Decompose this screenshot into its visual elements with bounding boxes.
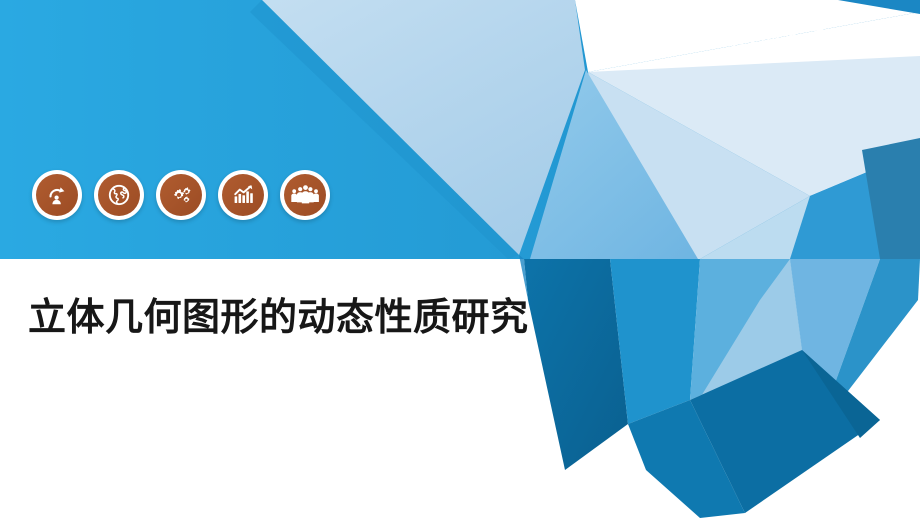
icon-badge-globe[interactable] [94, 170, 144, 220]
gears-icon [160, 174, 202, 216]
icon-badge-bar-chart[interactable] [218, 170, 268, 220]
bar-chart-growth-icon [222, 174, 264, 216]
slide-canvas: 数智创新 变革未来 [0, 0, 920, 518]
recycle-person-icon [36, 174, 78, 216]
header-tagline: 数智创新 变革未来 [715, 26, 898, 51]
icon-badge-recycle-person[interactable] [32, 170, 82, 220]
page-title: 立体几何图形的动态性质研究 [28, 292, 548, 346]
icon-strip [32, 170, 330, 220]
icon-badge-gears[interactable] [156, 170, 206, 220]
low-poly-background-artwork [0, 0, 920, 518]
globe-icon [98, 174, 140, 216]
icon-badge-people-group[interactable] [280, 170, 330, 220]
people-group-icon [284, 174, 326, 216]
title-block: 立体几何图形的动态性质研究 [28, 292, 548, 346]
